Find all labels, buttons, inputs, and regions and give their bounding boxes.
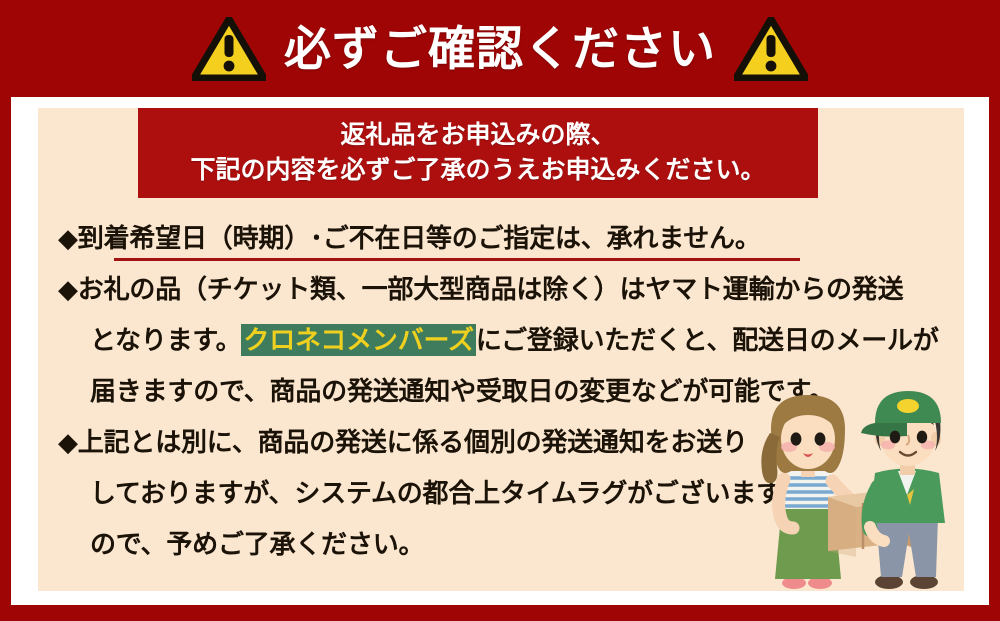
notice-line-1: 返礼品をお申込みの際、 [340,118,615,154]
notice-box: 返礼品をお申込みの際、 下記の内容を必ずご了承のうえお申込みください。 [138,108,818,198]
bullet-2-text-1: お礼の品（チケット類、一部大型商品は除く）はヤマト運輸からの発送 [78,274,904,304]
bullet-marker: ◆ [58,223,78,253]
warning-triangle-icon [734,17,808,81]
courier-figure [861,391,945,589]
delivery-handover-illustration [742,377,964,591]
bullet-2-text-2: となります。 [90,325,241,355]
bullet-3-text-3: ので、予めご了承ください。 [90,529,424,559]
bullet-1-underline [114,258,800,261]
woman-figure [761,395,862,589]
bullet-item-1: ◆到着希望日（時期）･ご不在日等のご指定は、承れません。 [58,213,948,264]
content-panel: 返礼品をお申込みの際、 下記の内容を必ずご了承のうえお申込みください。 ◆到着希… [38,108,964,591]
page-title: 必ずご確認ください [284,25,716,72]
frame-border-bottom [0,605,1000,621]
bullet-1-text: 到着希望日（時期）･ご不在日等のご指定は、承れません。 [78,223,761,253]
warning-triangle-icon [192,17,266,81]
notice-banner: 必ずご確認ください 返礼品をお申込みの際、 下記の内容を必ずご了承のうえお申込み… [0,0,1000,621]
bullet-2-text-2b: にご登録いただくと、配送日のメールが [476,325,939,355]
bullet-2-line-1: ◆お礼の品（チケット類、一部大型商品は除く）はヤマト運輸からの発送 [58,264,948,315]
banner-header: 必ずご確認ください [0,0,1000,97]
bullet-2-line-2: となります。クロネコメンバーズにご登録いただくと、配送日のメールが [58,315,948,366]
bullet-marker: ◆ [58,427,78,457]
kuroneko-members-highlight: クロネコメンバーズ [241,324,475,356]
bullet-2-text-3: 届きますので、商品の発送通知や受取日の変更などが可能です。 [90,376,835,406]
bullet-marker: ◆ [58,274,78,304]
bullet-3-text-2: しておりますが、システムの都合上タイムラグがございます [90,478,782,508]
notice-line-2: 下記の内容を必ずご了承のうえお申込みください。 [190,153,765,189]
bullet-1-line-1: ◆到着希望日（時期）･ご不在日等のご指定は、承れません。 [58,213,948,264]
bullet-3-text-1: 上記とは別に、商品の発送に係る個別の発送通知をお送り [78,427,748,457]
